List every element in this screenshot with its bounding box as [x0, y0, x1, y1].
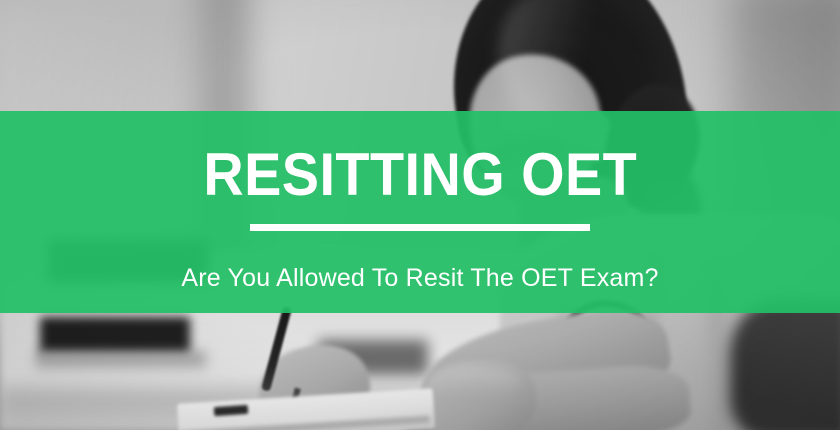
monitor-base: [40, 317, 190, 355]
hand-knuckles: [424, 366, 520, 396]
title-container: RESITTING OET: [187, 144, 654, 206]
green-overlay-band: RESITTING OET Are You Allowed To Resit T…: [0, 111, 840, 313]
page-title: RESITTING OET: [203, 145, 637, 205]
title-divider: [250, 224, 590, 231]
chair: [730, 300, 840, 430]
band-content: RESITTING OET Are You Allowed To Resit T…: [0, 111, 840, 313]
page-subtitle: Are You Allowed To Resit The OET Exam?: [181, 265, 658, 293]
monitor-stand: [36, 352, 206, 370]
oet-resit-banner: RESITTING OET Are You Allowed To Resit T…: [0, 0, 840, 430]
